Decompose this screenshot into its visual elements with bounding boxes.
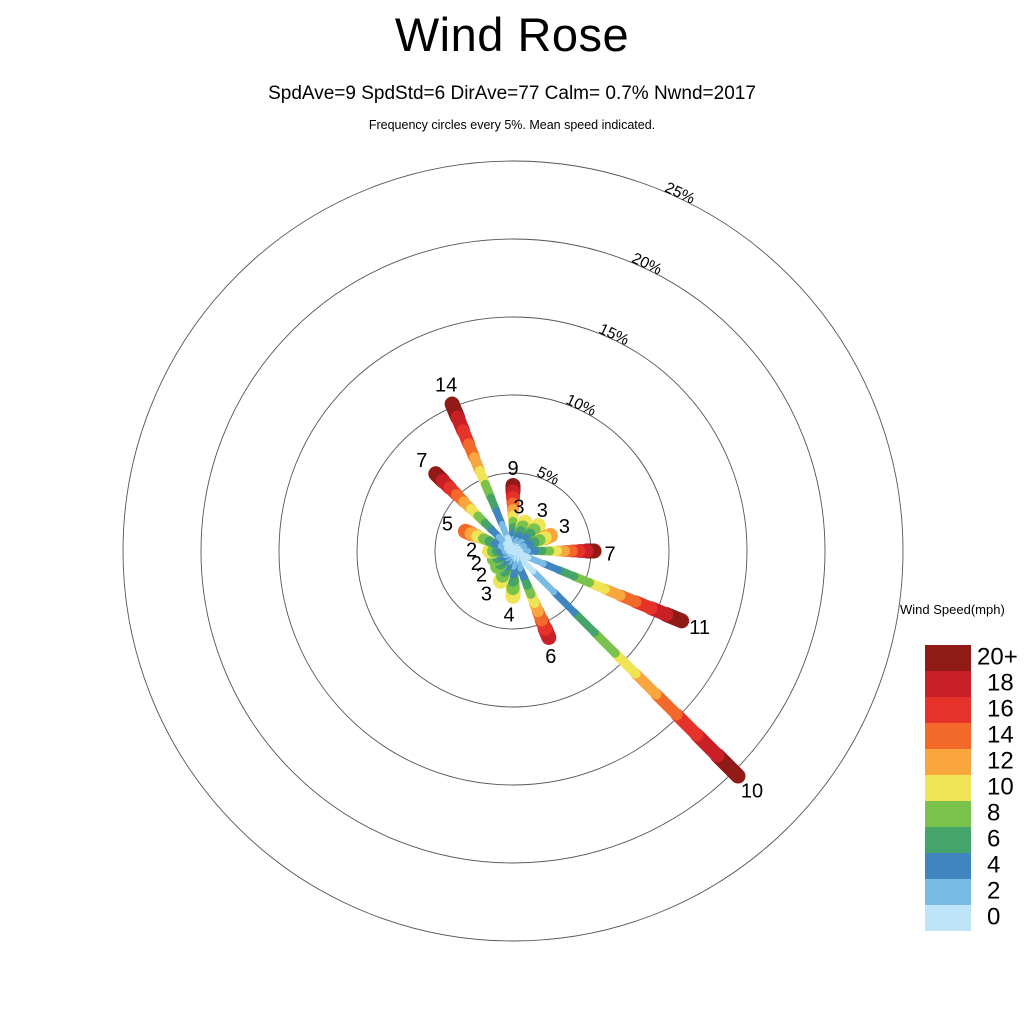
legend-row: 2 xyxy=(925,879,971,905)
legend-row: 4 xyxy=(925,853,971,879)
legend-swatch xyxy=(925,723,971,749)
wind-rose-plot: 5%10%15%20%25%9333711106432225714 xyxy=(0,0,1024,1024)
legend-swatch xyxy=(925,801,971,827)
legend-label: 2 xyxy=(987,877,1000,905)
petal-segment xyxy=(574,612,594,632)
legend-swatch xyxy=(925,671,971,697)
legend-label: 20+ xyxy=(977,643,1018,671)
legend-row: 6 xyxy=(925,827,971,853)
legend-label: 18 xyxy=(987,669,1014,697)
legend-row: 16 xyxy=(925,697,971,723)
legend-swatch xyxy=(925,879,971,905)
legend-swatch xyxy=(925,749,971,775)
wind-speed-legend: 20+181614121086420 xyxy=(925,645,971,931)
legend-swatch xyxy=(925,853,971,879)
petal-mean-speed-label: 4 xyxy=(503,605,514,627)
legend-row: 12 xyxy=(925,749,971,775)
legend-swatch xyxy=(925,697,971,723)
legend-row: 0 xyxy=(925,905,971,931)
petal-mean-speed-label: 11 xyxy=(689,617,710,639)
legend-title: Wind Speed(mph) xyxy=(900,602,1024,617)
legend-swatch xyxy=(925,645,971,671)
petal-segment xyxy=(595,633,615,653)
radial-tick-label: 25% xyxy=(662,179,697,208)
petal-mean-speed-label: 3 xyxy=(513,496,524,518)
radial-tick-label: 20% xyxy=(629,250,664,279)
petal-mean-speed-label: 14 xyxy=(435,374,457,396)
radial-tick-label: 10% xyxy=(563,391,598,420)
legend-row: 18 xyxy=(925,671,971,697)
legend-row: 10 xyxy=(925,775,971,801)
legend-row: 14 xyxy=(925,723,971,749)
legend-label: 0 xyxy=(987,903,1000,931)
petal-mean-speed-label: 3 xyxy=(537,500,548,522)
legend-label: 4 xyxy=(987,851,1000,879)
legend-swatch xyxy=(925,827,971,853)
radial-tick-label: 15% xyxy=(596,321,631,350)
legend-label: 16 xyxy=(987,695,1014,723)
petal-mean-speed-label: 3 xyxy=(559,516,570,538)
petal-mean-speed-label: 7 xyxy=(605,543,616,565)
legend-label: 6 xyxy=(987,825,1000,853)
legend-swatch xyxy=(925,775,971,801)
legend-label: 12 xyxy=(987,747,1014,775)
petal-mean-speed-label: 5 xyxy=(442,514,453,536)
petal-mean-speed-label: 6 xyxy=(545,646,556,668)
legend-label: 14 xyxy=(987,721,1014,749)
petal-mean-speed-label: 3 xyxy=(481,584,492,606)
legend-label: 8 xyxy=(987,799,1000,827)
petal-mean-speed-label: 7 xyxy=(416,450,427,472)
legend-label: 10 xyxy=(987,773,1014,801)
radial-tick-labels: 5%10%15%20%25% xyxy=(534,179,697,489)
radial-tick-label: 5% xyxy=(534,464,562,489)
petal-segment xyxy=(533,571,553,591)
petal-mean-speed-label: 2 xyxy=(466,539,477,561)
petal-mean-speed-label: 9 xyxy=(507,458,518,480)
wind-rose-figure: Wind Rose SpdAve=9 SpdStd=6 DirAve=77 Ca… xyxy=(0,0,1024,1024)
legend-swatch xyxy=(925,905,971,931)
petal-mean-speed-label: 10 xyxy=(741,780,763,802)
legend-row: 20+ xyxy=(925,645,971,671)
legend-row: 8 xyxy=(925,801,971,827)
